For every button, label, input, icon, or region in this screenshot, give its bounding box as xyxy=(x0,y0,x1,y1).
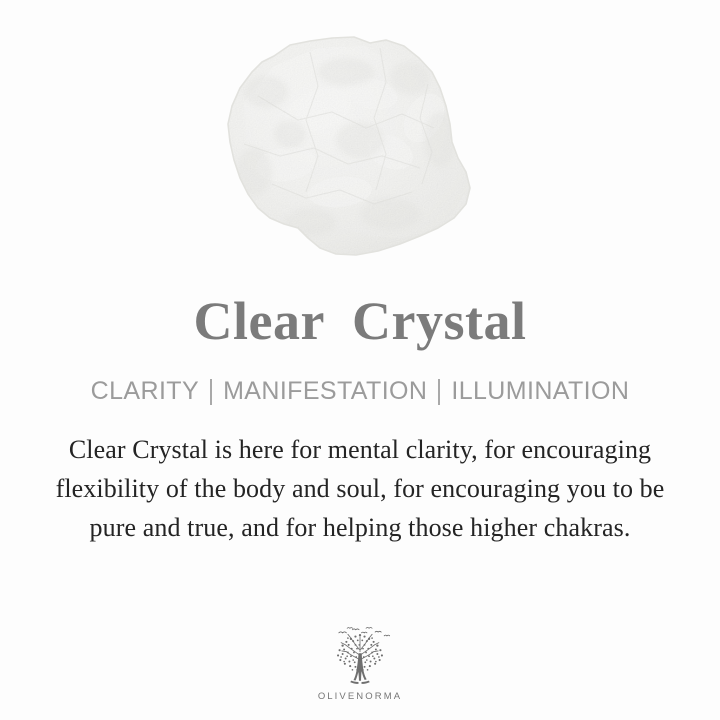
keyword-manifestation: MANIFESTATION xyxy=(223,376,427,406)
keyword-row: CLARITY MANIFESTATION ILLUMINATION xyxy=(91,376,630,406)
brand-name: OLIVENORMA xyxy=(318,691,402,702)
product-description: Clear Crystal is here for mental clarity… xyxy=(40,430,680,547)
page-title: Clear Crystal xyxy=(194,292,527,350)
crystal-image-area xyxy=(0,0,720,292)
clear-quartz-crystal-image xyxy=(214,32,482,272)
keyword-separator-2 xyxy=(438,379,440,405)
keyword-separator-1 xyxy=(210,379,212,405)
product-info-card: Clear Crystal CLARITY MANIFESTATION ILLU… xyxy=(0,0,720,720)
keyword-clarity: CLARITY xyxy=(91,376,199,406)
brand-logo: OLIVENORMA xyxy=(0,626,720,702)
olive-tree-icon xyxy=(322,626,398,688)
keyword-illumination: ILLUMINATION xyxy=(451,376,629,406)
